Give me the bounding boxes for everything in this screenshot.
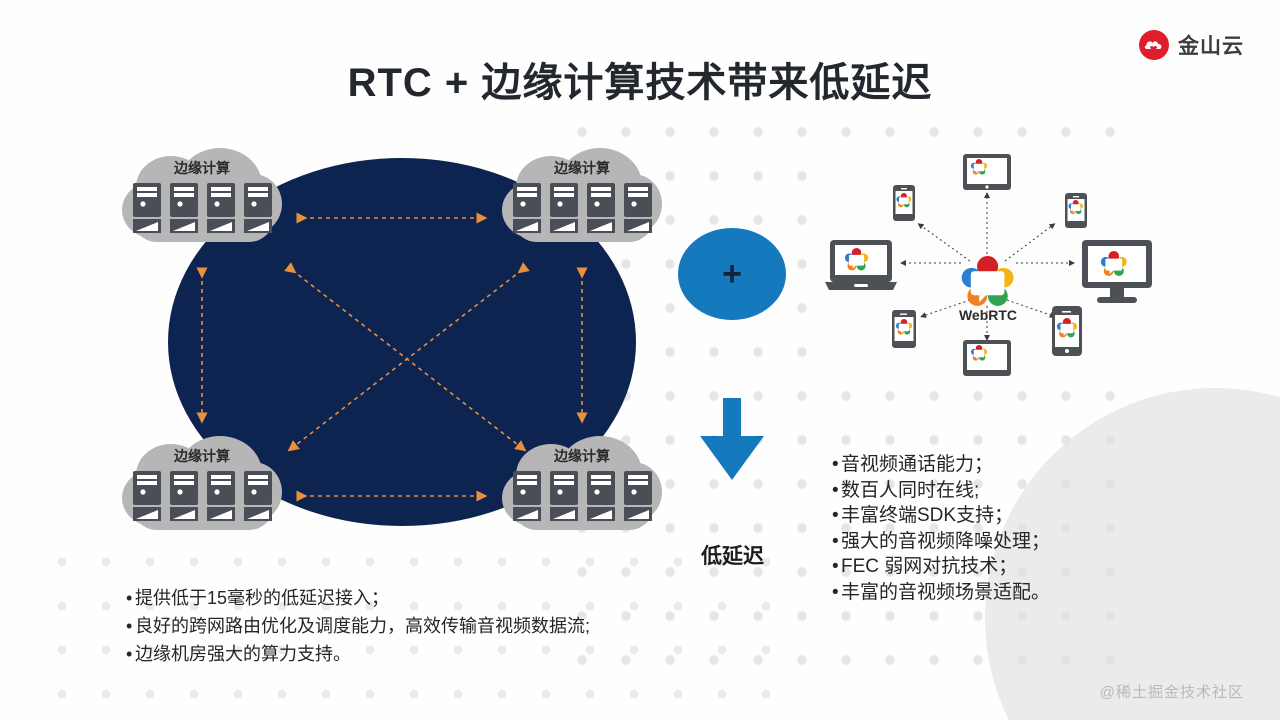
list-item: •丰富终端SDK支持； <box>832 503 1050 529</box>
list-item: •音视频通话能力； <box>832 452 1050 478</box>
link-hub-top-left <box>920 225 970 261</box>
slide-root: 金山云 RTC + 边缘计算技术带来低延迟 边缘计算 <box>0 0 1280 720</box>
low-latency-label: 低延迟 <box>640 540 825 570</box>
plus-combiner-badge: + <box>678 228 786 320</box>
edge-node-label: 边缘计算 <box>502 158 662 178</box>
bullets-left: •提供低于15毫秒的低延迟接入； •良好的跨网路由优化及调度能力，高效传输音视频… <box>126 584 590 668</box>
server-icon <box>241 470 275 522</box>
server-icon <box>547 470 581 522</box>
list-item: •强大的音视频降噪处理； <box>832 529 1050 555</box>
server-icon <box>241 182 275 234</box>
server-icon <box>510 470 544 522</box>
edge-network-diagram: 边缘计算 边缘计算 边缘计算 <box>132 148 672 538</box>
link-hub-top-right <box>1005 225 1053 261</box>
edge-node-label: 边缘计算 <box>502 446 662 466</box>
server-icon <box>621 470 655 522</box>
edge-node-bottom-right: 边缘计算 <box>502 436 662 536</box>
server-rack-group <box>510 182 655 234</box>
server-icon <box>130 470 164 522</box>
device-phone-top-right <box>1065 193 1087 228</box>
plus-symbol: + <box>722 257 742 291</box>
list-item: •数百人同时在线; <box>832 478 1050 504</box>
list-item: •FEC 弱网对抗技术； <box>832 554 1050 580</box>
server-icon <box>584 182 618 234</box>
edge-node-top-right: 边缘计算 <box>502 148 662 248</box>
server-icon <box>204 470 238 522</box>
device-monitor-right <box>1082 240 1152 303</box>
server-rack-group <box>130 470 275 522</box>
webrtc-topology-diagram: WebRTC <box>820 148 1165 380</box>
bullets-right: •音视频通话能力； •数百人同时在线; •丰富终端SDK支持； •强大的音视频降… <box>832 452 1050 605</box>
server-rack-group <box>510 470 655 522</box>
device-tablet-bottom <box>963 340 1011 376</box>
device-phone-bottom-right <box>1052 306 1082 356</box>
server-icon <box>167 470 201 522</box>
edge-node-top-left: 边缘计算 <box>122 148 282 248</box>
list-item: •丰富的音视频场景适配。 <box>832 580 1050 606</box>
watermark: @稀土掘金技术社区 <box>1100 681 1244 702</box>
device-phone-bottom-left <box>892 310 916 348</box>
list-item: •提供低于15毫秒的低延迟接入； <box>126 584 590 612</box>
list-item: •良好的跨网路由优化及调度能力，高效传输音视频数据流; <box>126 612 590 640</box>
edge-node-label: 边缘计算 <box>122 446 282 466</box>
device-phone-top-left <box>893 185 915 221</box>
server-icon <box>547 182 581 234</box>
server-icon <box>584 470 618 522</box>
webrtc-hub-label: WebRTC <box>959 307 1017 323</box>
edge-node-label: 边缘计算 <box>122 158 282 178</box>
server-icon <box>510 182 544 234</box>
server-rack-group <box>130 182 275 234</box>
device-laptop-left <box>825 240 897 290</box>
edge-node-bottom-left: 边缘计算 <box>122 436 282 536</box>
server-icon <box>621 182 655 234</box>
page-title: RTC + 边缘计算技术带来低延迟 <box>0 50 1280 108</box>
device-tablet-top <box>963 154 1011 190</box>
server-icon <box>130 182 164 234</box>
server-icon <box>167 182 201 234</box>
webrtc-hub-icon <box>962 256 1014 306</box>
down-arrow-icon <box>692 398 772 482</box>
list-item: •边缘机房强大的算力支持。 <box>126 640 590 668</box>
server-icon <box>204 182 238 234</box>
